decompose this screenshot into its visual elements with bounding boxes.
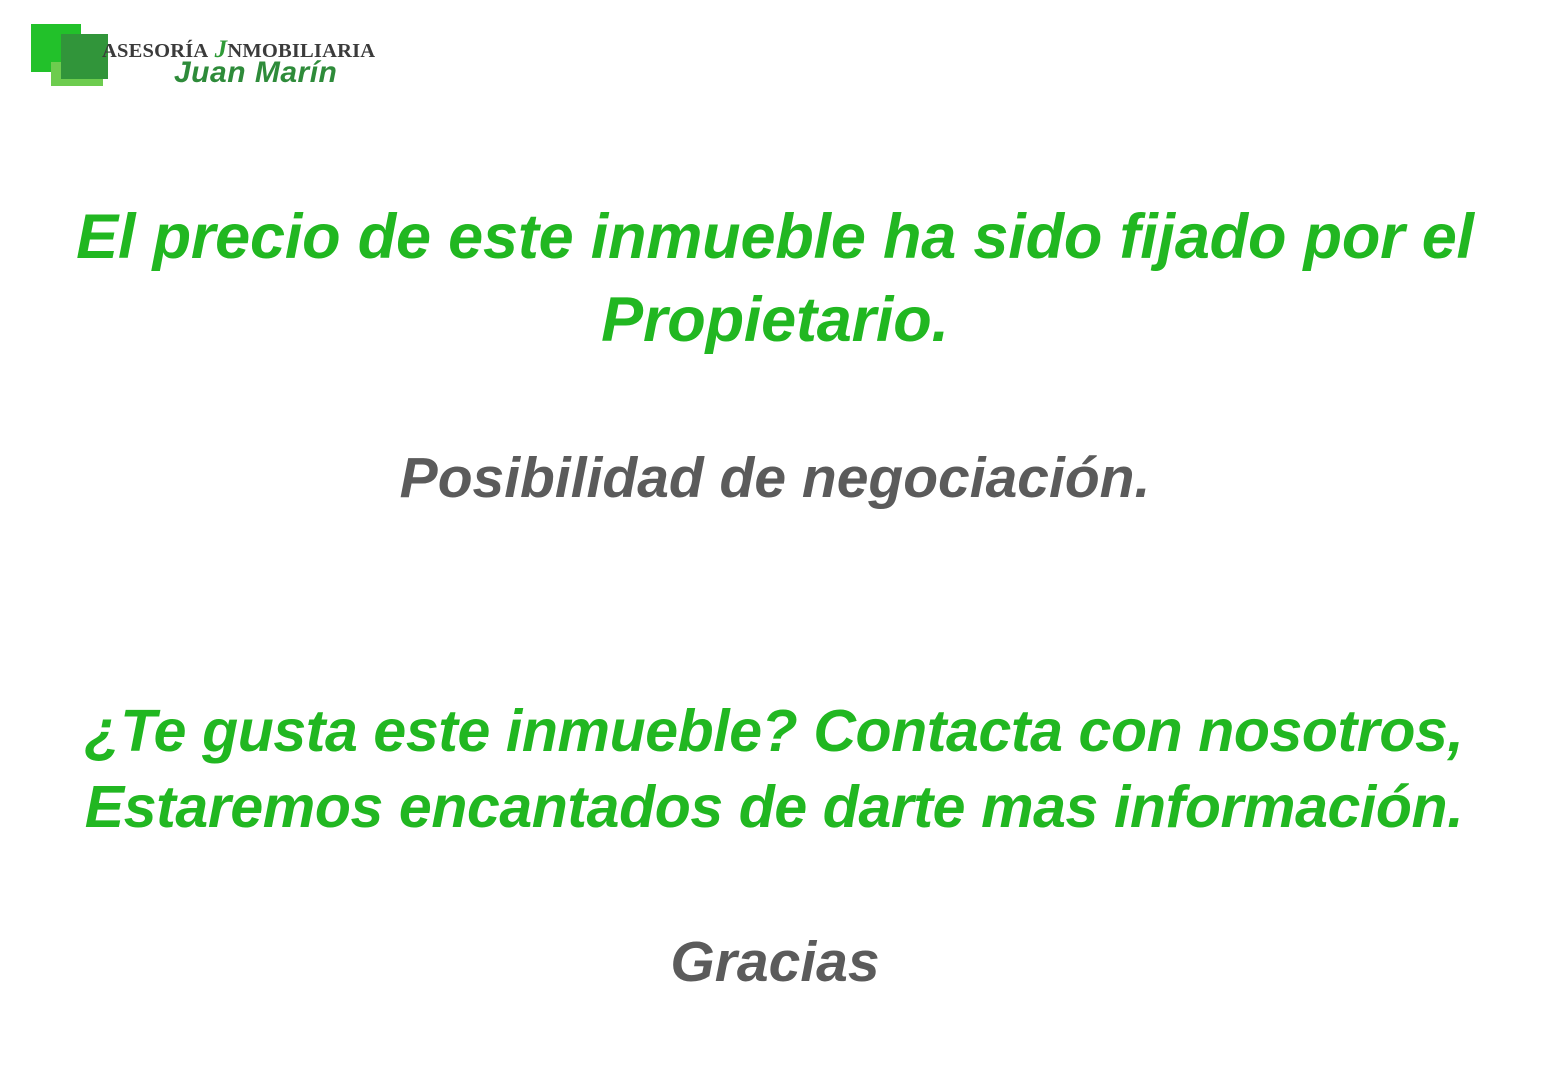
contact-call-to-action-text: ¿Te gusta este inmueble? Contacta con no… — [34, 694, 1514, 845]
logo-company-name: Juan Marín — [174, 56, 337, 90]
logo-wordmark: ASESORÍA JNMOBILIARIA Juan Marín — [102, 28, 372, 94]
contact-line-2: Estaremos encantados de darte mas inform… — [34, 770, 1514, 846]
price-notice-line-1: El precio de este inmueble ha sido fijad… — [60, 196, 1490, 279]
thanks-text: Gracias — [60, 928, 1490, 996]
price-notice-line-2: Propietario. — [60, 279, 1490, 362]
company-logo[interactable]: ASESORÍA JNMOBILIARIA Juan Marín — [14, 12, 374, 98]
contact-line-1: ¿Te gusta este inmueble? Contacta con no… — [34, 694, 1514, 770]
price-notice-text: El precio de este inmueble ha sido fijad… — [60, 196, 1490, 362]
thanks-line: Gracias — [60, 928, 1490, 996]
negotiation-text: Posibilidad de negociación. — [60, 444, 1490, 512]
slide-canvas: ASESORÍA JNMOBILIARIA Juan Marín El prec… — [0, 0, 1547, 1080]
logo-squares-icon — [14, 12, 114, 90]
logo-square-dark-green-icon — [61, 34, 108, 79]
negotiation-line: Posibilidad de negociación. — [60, 444, 1490, 512]
